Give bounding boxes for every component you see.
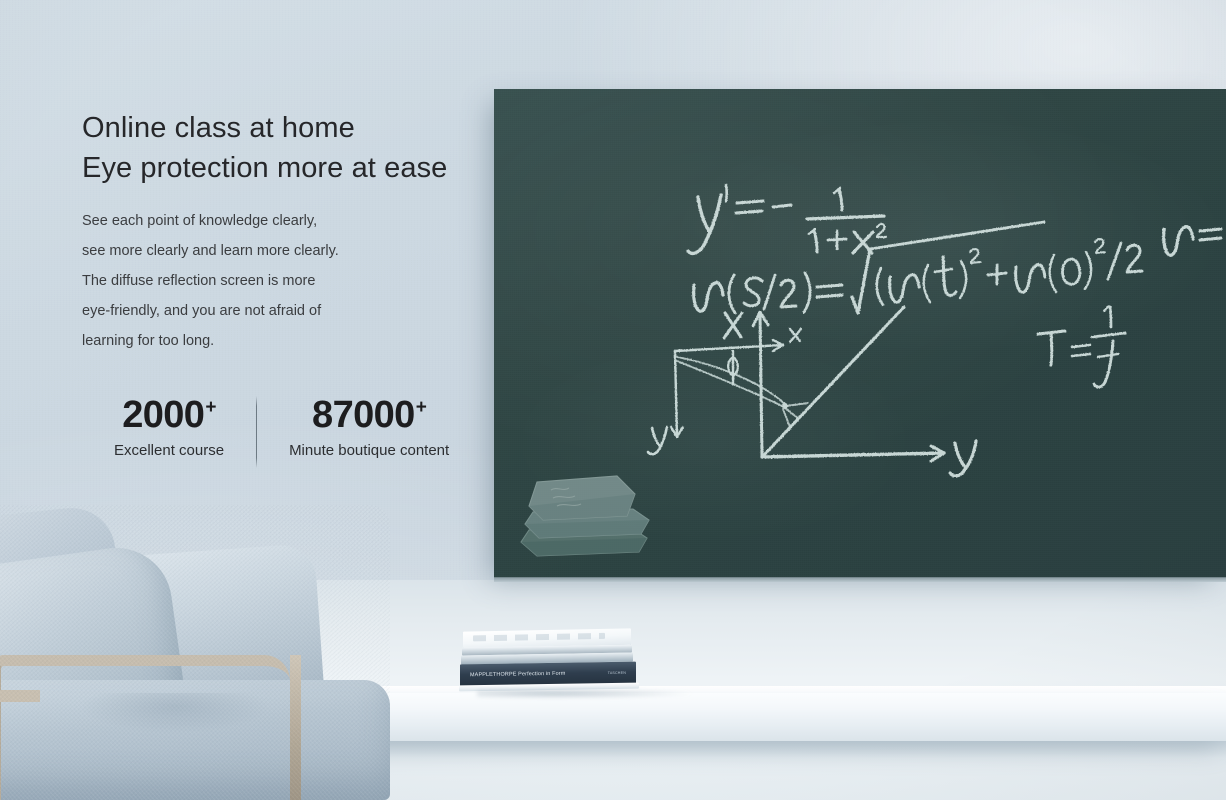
stat-suffix: + bbox=[205, 397, 216, 418]
stat-value: 2000+ bbox=[114, 392, 224, 438]
stat-suffix: + bbox=[416, 397, 427, 418]
room-scene: MAPPLETHORPE Perfection in Form TASCHEN … bbox=[0, 0, 1226, 800]
headline-line-1: Online class at home bbox=[82, 108, 502, 148]
book-spine-publisher: TASCHEN bbox=[608, 671, 626, 675]
stat-excellent-course: 2000+ Excellent course bbox=[100, 392, 238, 459]
stat-minute-boutique-content: 87000+ Minute boutique content bbox=[275, 392, 463, 459]
body-line-4: eye-friendly, and you are not afraid of bbox=[82, 296, 502, 326]
headline: Online class at home Eye protection more… bbox=[82, 108, 502, 188]
stats-divider bbox=[256, 396, 257, 468]
stat-label: Excellent course bbox=[114, 442, 224, 459]
armchair-wooden-armrest-near bbox=[0, 690, 40, 800]
stat-number: 87000 bbox=[312, 394, 415, 436]
shelf-book-cast-shadow bbox=[477, 689, 692, 698]
stat-number: 2000 bbox=[122, 394, 204, 436]
armchair-wooden-armrest bbox=[0, 655, 290, 800]
body-line-5: learning for too long. bbox=[82, 326, 502, 356]
headline-line-2: Eye protection more at ease bbox=[82, 148, 502, 188]
body-line-2: see more clearly and learn more clearly. bbox=[82, 236, 502, 266]
blackboard bbox=[494, 89, 1226, 578]
book-spine-title: MAPPLETHORPE Perfection in Form bbox=[470, 671, 565, 678]
shelf-book-stack: MAPPLETHORPE Perfection in Form TASCHEN bbox=[455, 630, 640, 692]
stat-value: 87000+ bbox=[289, 392, 449, 438]
armchair bbox=[0, 505, 390, 800]
body-line-1: See each point of knowledge clearly, bbox=[82, 206, 502, 236]
marketing-copy-block: Online class at home Eye protection more… bbox=[82, 108, 502, 356]
chalk-book-stack-illustration bbox=[507, 464, 672, 569]
statistics-row: 2000+ Excellent course 87000+ Minute bou… bbox=[100, 392, 463, 474]
body-line-3: The diffuse reflection screen is more bbox=[82, 266, 502, 296]
body-paragraph: See each point of knowledge clearly, see… bbox=[82, 206, 502, 356]
stat-label: Minute boutique content bbox=[289, 442, 449, 459]
